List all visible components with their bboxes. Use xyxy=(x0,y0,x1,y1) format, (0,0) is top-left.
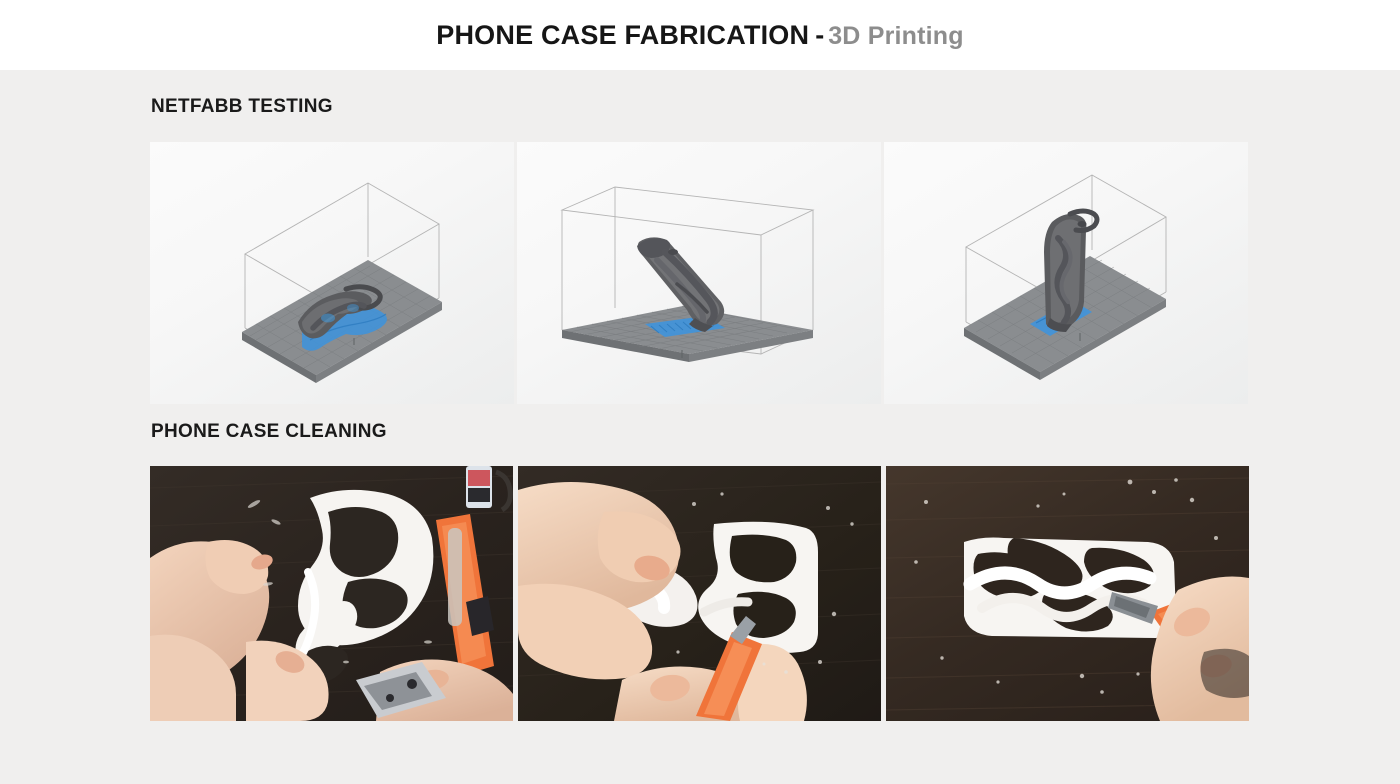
printed-phone-case xyxy=(964,538,1176,639)
photo-row xyxy=(150,466,1250,721)
page-title-dash: - xyxy=(809,20,828,51)
cad-panel-vertical[interactable] xyxy=(884,142,1248,404)
photo-panel-trim[interactable] xyxy=(518,466,881,721)
photo-panel-hold[interactable] xyxy=(150,466,513,721)
page-title-main: PHONE CASE FABRICATION xyxy=(436,20,809,51)
section-label-netfabb: NETFABB TESTING xyxy=(151,96,333,118)
section-label-cleaning: PHONE CASE CLEANING xyxy=(151,421,387,443)
photo-panel-scrape[interactable] xyxy=(886,466,1249,721)
cad-panel-flat[interactable] xyxy=(150,142,514,404)
page-header: PHONE CASE FABRICATION - 3D Printing xyxy=(0,0,1400,70)
cad-panel-angled[interactable] xyxy=(517,142,881,404)
print-bed xyxy=(562,306,813,362)
page-title: PHONE CASE FABRICATION - 3D Printing xyxy=(436,20,963,51)
cad-render-row xyxy=(150,142,1250,404)
page-title-sub: 3D Printing xyxy=(828,22,964,51)
